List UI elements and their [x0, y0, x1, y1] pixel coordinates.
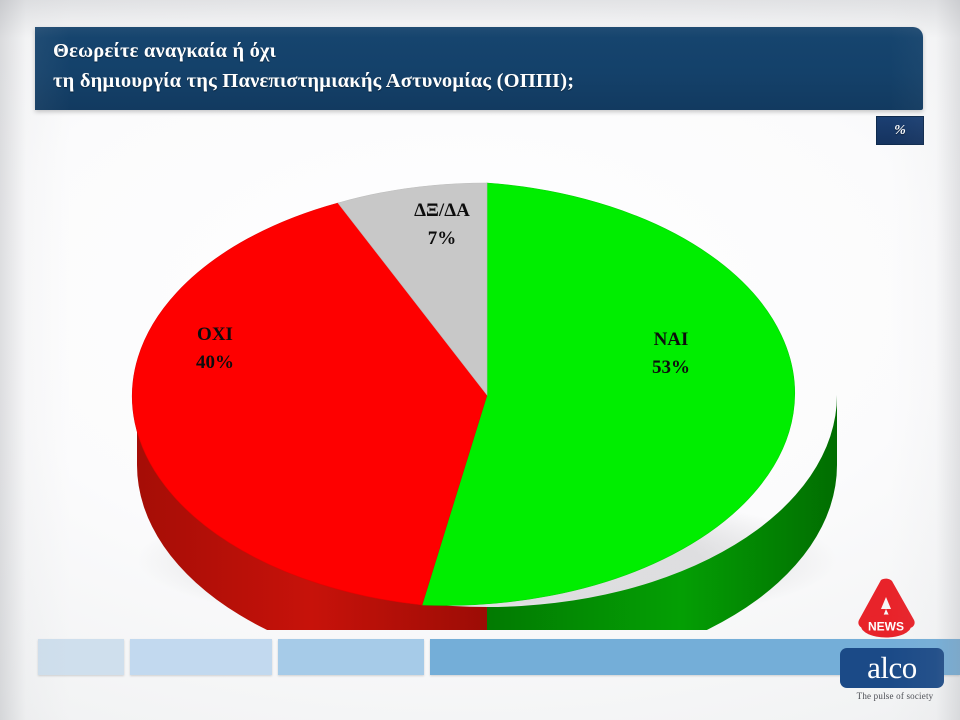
anews-logo-svg: NEWS [851, 578, 921, 640]
pie-label-nai-value: 53% [652, 357, 690, 378]
pie-label-nai-name: ΝΑΙ [654, 329, 689, 350]
percent-unit-label: % [894, 123, 906, 139]
pie-label-dxda-name: ΔΞ/ΔΑ [414, 200, 470, 221]
anews-logo: NEWS [851, 578, 921, 640]
pie-label-oxi-name: ΟΧΙ [197, 324, 233, 345]
strip-segment-3 [278, 639, 424, 675]
slide-title: Θεωρείτε αναγκαία ή όχι τη δημιουργία τη… [53, 36, 911, 96]
anews-logo-word: NEWS [868, 620, 904, 634]
strip-segment-1 [38, 639, 124, 675]
alco-logo-text: alco [867, 652, 917, 683]
percent-unit-badge: % [876, 116, 924, 145]
strip-segment-2 [130, 639, 272, 675]
pie-chart-svg: ΝΑΙ 53% ΟΧΙ 40% ΔΞ/ΔΑ 7% [115, 160, 855, 630]
bottom-color-strip [0, 639, 960, 675]
slide-canvas: Θεωρείτε αναγκαία ή όχι τη δημιουργία τη… [0, 0, 960, 720]
alco-logo: alco [840, 648, 944, 688]
pie-chart: ΝΑΙ 53% ΟΧΙ 40% ΔΞ/ΔΑ 7% [115, 160, 855, 630]
slide-title-bar: Θεωρείτε αναγκαία ή όχι τη δημιουργία τη… [35, 27, 923, 110]
pie-label-oxi-value: 40% [196, 352, 234, 373]
alco-tagline: The pulse of society [840, 691, 950, 701]
pie-label-dxda-value: 7% [428, 228, 457, 249]
